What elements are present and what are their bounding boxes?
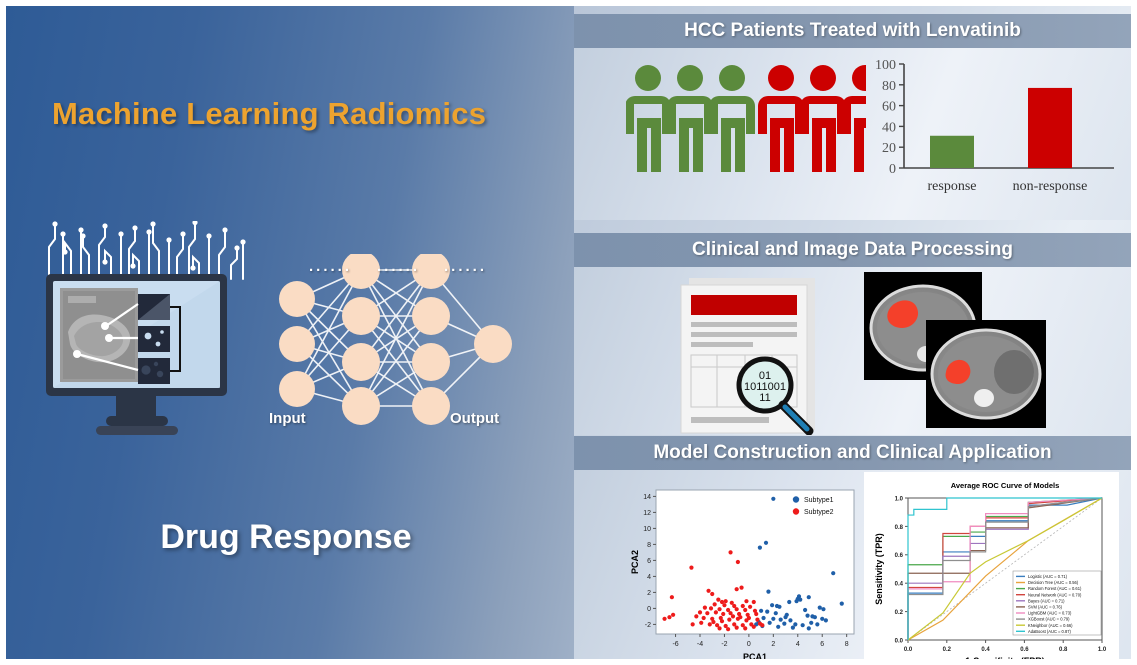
scatter-point-s0 — [805, 614, 809, 618]
scatter-point-s0 — [791, 626, 795, 630]
scatter-point-s1 — [720, 619, 724, 623]
section-2-title: Clinical and Image Data Processing — [574, 233, 1131, 267]
scatter-point-s1 — [743, 608, 747, 612]
scatter-y-tick: 10 — [643, 526, 651, 533]
scatter-point-s1 — [714, 610, 718, 614]
scatter-ylabel: PCA2 — [630, 550, 640, 574]
scatter-point-s0 — [770, 603, 774, 607]
bar-0 — [930, 136, 974, 168]
scatter-point-s0 — [831, 571, 835, 575]
scatter-point-s0 — [766, 590, 770, 594]
roc-legend-label-6: LightGBM (AUC = 0.73) — [1028, 611, 1072, 616]
scatter-point-s1 — [727, 618, 731, 622]
scatter-y-tick: 12 — [643, 510, 651, 517]
scatter-point-s1 — [709, 606, 713, 610]
scatter-y-tick: 14 — [643, 494, 651, 501]
nn-output-label: Output — [450, 410, 499, 427]
roc-xlabel: 1-Specificity (FPR) — [965, 656, 1045, 659]
scatter-legend-label-0: Subtype1 — [804, 497, 834, 504]
scatter-point-s1 — [711, 620, 715, 624]
green-patient-icons — [626, 65, 755, 172]
scatter-point-s0 — [821, 607, 825, 611]
roc-y-tick: 0.8 — [895, 525, 904, 531]
scatter-x-tick: -4 — [697, 641, 703, 648]
scatter-point-s0 — [759, 609, 763, 613]
scatter-point-s1 — [694, 614, 698, 618]
scatter-point-s0 — [840, 602, 844, 606]
pca-scatter-plot: -6-4-202468-202468101214PCA1PCA2Subtype1… — [622, 476, 867, 659]
scatter-point-s0 — [777, 605, 781, 609]
scatter-point-s1 — [741, 604, 745, 608]
scatter-x-tick: -6 — [672, 641, 678, 648]
scatter-y-tick: 8 — [647, 542, 651, 549]
scatter-point-s1 — [703, 606, 707, 610]
patient-group-icons — [626, 60, 866, 180]
scatter-point-s1 — [710, 592, 714, 596]
scatter-point-s1 — [755, 618, 759, 622]
section-1-body: 020406080100responsenon-response — [574, 48, 1131, 220]
scatter-point-s1 — [689, 566, 693, 570]
roc-x-tick: 0.4 — [981, 647, 990, 653]
scatter-point-s1 — [705, 611, 709, 615]
scatter-point-s0 — [771, 617, 775, 621]
scatter-point-s0 — [765, 610, 769, 614]
bar-y-tick: 0 — [889, 162, 896, 177]
scatter-x-tick: 6 — [820, 641, 824, 648]
roc-ylabel: Sensitivity (TPR) — [874, 533, 884, 605]
scatter-y-tick: 6 — [647, 558, 651, 565]
scatter-point-s1 — [738, 615, 742, 619]
neural-network-diagram — [261, 254, 526, 434]
scatter-point-s1 — [716, 598, 720, 602]
roc-title: Average ROC Curve of Models — [951, 481, 1060, 490]
scatter-point-s0 — [764, 541, 768, 545]
scatter-x-tick: 2 — [771, 641, 775, 648]
roc-legend-label-4: Bayes (AUC = 0.71) — [1028, 598, 1065, 603]
scatter-legend-marker-1 — [793, 508, 799, 514]
section-data-processing: Clinical and Image Data Processing — [574, 233, 1131, 435]
right-column: HCC Patients Treated with Lenvatinib 020… — [574, 6, 1131, 659]
scatter-point-s1 — [713, 602, 717, 606]
roc-x-tick: 0.6 — [1020, 647, 1029, 653]
scatter-point-s1 — [747, 616, 751, 620]
bar-y-tick: 20 — [882, 141, 896, 156]
scatter-point-s1 — [702, 616, 706, 620]
scatter-point-s0 — [813, 615, 817, 619]
clinical-document-magnifier-illustration: 01 1011001 11 — [669, 275, 849, 435]
scatter-x-tick: 0 — [747, 641, 751, 648]
roc-x-tick: 1.0 — [1098, 647, 1107, 653]
roc-legend-label-8: KNeighbor (AUC = 0.66) — [1028, 623, 1073, 628]
scatter-point-s1 — [754, 612, 758, 616]
roc-y-tick: 0.2 — [895, 610, 904, 616]
roc-legend-label-5: SVM (AUC = 0.76) — [1028, 605, 1063, 610]
nn-ellipsis-layer2: ...... — [377, 258, 420, 275]
scatter-point-s1 — [744, 599, 748, 603]
scatter-point-s1 — [671, 613, 675, 617]
drug-response-label: Drug Response — [46, 518, 526, 557]
roc-legend-label-3: Neural Network (AUC = 0.70) — [1028, 592, 1082, 597]
scatter-point-s1 — [743, 626, 747, 630]
scatter-point-s0 — [758, 546, 762, 550]
roc-legend-label-1: Decision Tree (AUC = 0.56) — [1028, 580, 1079, 585]
scatter-point-s1 — [670, 595, 674, 599]
scatter-legend-marker-0 — [793, 496, 799, 502]
scatter-point-s1 — [735, 587, 739, 591]
scatter-point-s0 — [774, 611, 778, 615]
nn-ellipsis-layer3: ...... — [444, 258, 487, 275]
scatter-point-s0 — [783, 615, 787, 619]
roc-legend-label-0: Logistic (AUC = 0.71) — [1028, 574, 1068, 579]
scatter-point-s0 — [787, 600, 791, 604]
scatter-point-s0 — [818, 606, 822, 610]
document-header-bar — [691, 295, 797, 315]
roc-y-tick: 0.0 — [895, 638, 904, 644]
scatter-point-s1 — [728, 550, 732, 554]
scatter-point-s0 — [801, 623, 805, 627]
scatter-point-s1 — [731, 614, 735, 618]
roc-curve-plot: Average ROC Curve of Models0.00.20.40.60… — [864, 472, 1119, 659]
scatter-y-tick: 4 — [647, 574, 651, 581]
section-2-body: 01 1011001 11 — [574, 267, 1131, 435]
scatter-point-s1 — [724, 599, 728, 603]
roc-x-tick: 0.2 — [943, 647, 952, 653]
scatter-point-s1 — [735, 626, 739, 630]
nn-input-label: Input — [269, 410, 306, 427]
scatter-point-s1 — [667, 615, 671, 619]
roc-y-tick: 0.4 — [895, 582, 904, 588]
scatter-x-tick: 4 — [796, 641, 800, 648]
scatter-point-s1 — [708, 622, 712, 626]
section-3-title: Model Construction and Clinical Applicat… — [574, 436, 1131, 470]
scatter-point-s1 — [726, 627, 730, 631]
roc-legend-label-7: XGBoost (AUC = 0.79) — [1028, 617, 1070, 622]
scatter-xlabel: PCA1 — [743, 652, 767, 659]
scatter-point-s0 — [768, 621, 772, 625]
scatter-point-s1 — [706, 589, 710, 593]
scatter-point-s1 — [699, 621, 703, 625]
scatter-point-s0 — [788, 618, 792, 622]
scatter-y-tick: 2 — [647, 590, 651, 597]
binary-line-3: 11 — [759, 392, 770, 404]
bar-1 — [1028, 88, 1072, 168]
scatter-point-s1 — [722, 603, 726, 607]
scatter-point-s1 — [739, 586, 743, 590]
scatter-point-s0 — [779, 618, 783, 622]
scatter-point-s1 — [662, 617, 666, 621]
roc-y-tick: 1.0 — [895, 496, 904, 502]
bar-y-tick: 80 — [882, 79, 896, 94]
bar-y-tick: 60 — [882, 100, 896, 115]
scatter-point-s0 — [794, 599, 798, 603]
scatter-point-s0 — [809, 621, 813, 625]
section-hcc-patients: HCC Patients Treated with Lenvatinib 020… — [574, 14, 1131, 220]
scatter-point-s0 — [807, 626, 811, 630]
circuit-trace-decoration — [41, 221, 256, 281]
scatter-point-s1 — [717, 607, 721, 611]
scatter-point-s1 — [691, 622, 695, 626]
nn-ellipsis-layer1: ...... — [309, 258, 352, 275]
red-patient-icons — [758, 65, 866, 172]
scatter-point-s1 — [717, 626, 721, 630]
bar-y-tick: 100 — [875, 58, 896, 73]
roc-x-tick: 0.8 — [1059, 647, 1068, 653]
scatter-y-tick: 0 — [647, 606, 651, 613]
scatter-point-s0 — [761, 616, 765, 620]
left-panel: Machine Learning Radiomics — [6, 6, 574, 659]
scatter-point-s0 — [771, 497, 775, 501]
scatter-point-s1 — [721, 612, 725, 616]
scatter-legend-label-1: Subtype2 — [804, 509, 834, 516]
scatter-point-s0 — [803, 608, 807, 612]
scatter-point-s0 — [820, 617, 824, 621]
roc-x-tick: 0.0 — [904, 647, 913, 653]
response-rate-bar-chart: 020406080100responsenon-response — [864, 50, 1124, 205]
bar-y-tick: 40 — [882, 120, 896, 135]
ct-scan-images — [864, 272, 1049, 432]
section-1-title: HCC Patients Treated with Lenvatinib — [574, 14, 1131, 48]
scatter-x-tick: -2 — [721, 641, 727, 648]
scatter-point-s0 — [798, 598, 802, 602]
page-title: Machine Learning Radiomics — [52, 96, 532, 132]
section-model-construction: Model Construction and Clinical Applicat… — [574, 436, 1131, 659]
scatter-point-s1 — [736, 560, 740, 564]
scatter-point-s1 — [735, 607, 739, 611]
bar-category-0: response — [928, 179, 977, 194]
radiomics-monitor-illustration — [44, 274, 229, 444]
scatter-x-tick: 8 — [845, 641, 849, 648]
scatter-point-s1 — [748, 605, 752, 609]
scatter-point-s0 — [824, 618, 828, 622]
scatter-point-s1 — [698, 610, 702, 614]
scatter-point-s0 — [807, 595, 811, 599]
scatter-point-s1 — [752, 600, 756, 604]
section-3-body: -6-4-202468-202468101214PCA1PCA2Subtype1… — [574, 470, 1131, 659]
scatter-point-s1 — [752, 625, 756, 629]
roc-legend-label-2: Random Forest (AUC = 0.61) — [1028, 586, 1082, 591]
scatter-point-s1 — [760, 623, 764, 627]
graphical-abstract: Machine Learning Radiomics — [6, 6, 1131, 659]
roc-y-tick: 0.6 — [895, 553, 904, 559]
scatter-point-s0 — [815, 622, 819, 626]
scatter-point-s0 — [776, 625, 780, 629]
ct-slice-2 — [926, 320, 1046, 428]
scatter-point-s0 — [782, 622, 786, 626]
bar-category-1: non-response — [1013, 179, 1088, 194]
roc-legend-label-9: AdaBoost (AUC = 0.87) — [1028, 629, 1072, 634]
scatter-y-tick: -2 — [645, 622, 651, 629]
